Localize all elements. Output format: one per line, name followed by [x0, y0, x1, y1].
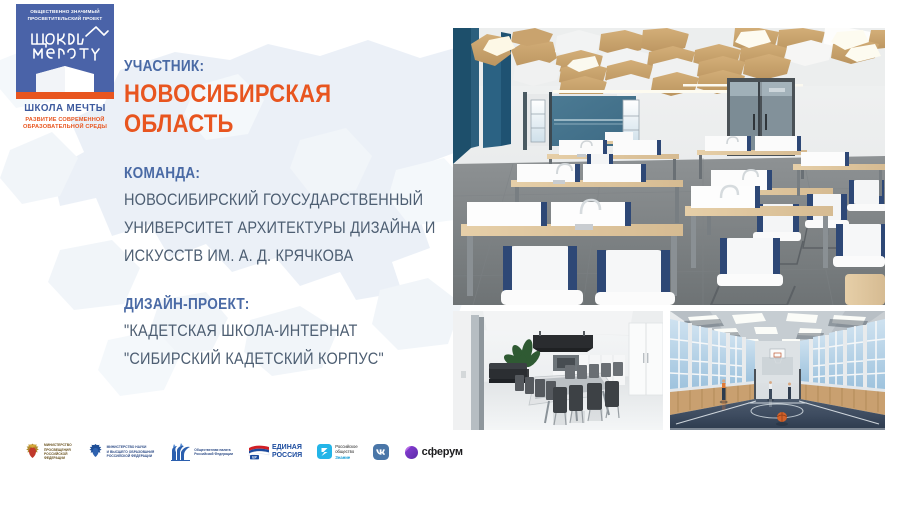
logo-house-icon	[16, 62, 114, 92]
footer-logo-minprosvet: МИНИСТЕРСТВО ПРОСВЕЩЕНИЯ РОССИЙСКОЙ ФЕДЕ…	[24, 442, 72, 462]
znanie-icon	[317, 444, 332, 459]
participant-label: УЧАСТНИК:	[124, 58, 414, 76]
footer-logo-sferum: сферум	[404, 445, 463, 460]
logo-subtitle: РАЗВИТИЕ СОВРЕМЕННОЙ ОБРАЗОВАТЕЛЬНОЙ СРЕ…	[16, 117, 114, 132]
logo-subtitle-line2: ОБРАЗОВАТЕЛЬНОЙ СРЕДЫ	[16, 124, 114, 131]
logo-banner: ОБЩЕСТВЕННО ЗНАЧИМЫЙ ПРОСВЕТИТЕЛЬСКИЙ ПР…	[16, 4, 114, 92]
logo-banner-caption: ОБЩЕСТВЕННО ЗНАЧИМЫЙ ПРОСВЕТИТЕЛЬСКИЙ ПР…	[16, 4, 114, 22]
logo-script-handwriting	[16, 22, 114, 64]
minprosvet-line4: ФЕДЕРАЦИИ	[44, 456, 72, 460]
school-of-dreams-logo: ОБЩЕСТВЕННО ЗНАЧИМЫЙ ПРОСВЕТИТЕЛЬСКИЙ ПР…	[16, 4, 114, 131]
edinaya-rossiya-line1: ЕДИНАЯ	[272, 444, 302, 452]
logo-banner-line1: ОБЩЕСТВЕННО ЗНАЧИМЫЙ	[20, 9, 110, 16]
participant-region-line1: НОВОСИБИРСКАЯ	[124, 79, 414, 109]
sferum-icon	[404, 445, 419, 460]
conference-room-illustration	[453, 311, 663, 430]
palata-icon	[169, 442, 191, 462]
footer-logo-znanie: Российское общество Знание	[317, 444, 357, 460]
footer-logo-vk	[373, 444, 389, 460]
znanie-text: Российское общество Знание	[335, 444, 357, 460]
photo-classroom-main	[453, 28, 885, 305]
team-line-1: НОВОСИБИРСКИЙ ГОУСУДАРСТВЕННЫЙ	[124, 186, 414, 214]
partner-logos-footer: МИНИСТЕРСТВО ПРОСВЕЩЕНИЯ РОССИЙСКОЙ ФЕДЕ…	[24, 442, 463, 462]
znanie-line3: Знание	[335, 455, 357, 460]
design-project-line-1: "КАДЕТСКАЯ ШКОЛА-ИНТЕРНАТ	[124, 317, 414, 345]
edinaya-rossiya-line2: РОССИЯ	[272, 452, 302, 460]
design-project-label: ДИЗАЙН-ПРОЕКТ:	[124, 296, 414, 314]
edinaya-rossiya-flag-icon: ЕР	[248, 444, 270, 460]
palata-text: Общественная палата Российской Федерации	[194, 448, 233, 457]
footer-logo-minobrnauki: МИНИСТЕРСТВО НАУКИ И ВЫСШЕГО ОБРАЗОВАНИЯ…	[87, 442, 155, 462]
logo-title: ШКОЛА МЕЧТЫ	[16, 103, 114, 114]
sferum-label: сферум	[422, 446, 463, 458]
gold-eagle-icon	[24, 442, 41, 462]
minprosvet-text: МИНИСТЕРСТВО ПРОСВЕЩЕНИЯ РОССИЙСКОЙ ФЕДЕ…	[44, 443, 72, 461]
minprosvet-line1: МИНИСТЕРСТВО	[44, 443, 72, 447]
design-project-group: ДИЗАЙН-ПРОЕКТ: "КАДЕТСКАЯ ШКОЛА-ИНТЕРНАТ…	[124, 296, 454, 373]
logo-orange-bar	[16, 92, 114, 99]
team-label: КОМАНДА:	[124, 165, 414, 183]
vk-icon	[373, 444, 389, 460]
logo-subtitle-line1: РАЗВИТИЕ СОВРЕМЕННОЙ	[16, 117, 114, 124]
team-line-3: ИСКУССТВ ИМ. А. Д. КРЯЧКОВА	[124, 242, 414, 270]
footer-logo-palata: Общественная палата Российской Федерации	[169, 442, 233, 462]
slide-text-column: УЧАСТНИК: НОВОСИБИРСКАЯ ОБЛАСТЬ КОМАНДА:…	[124, 58, 454, 373]
presentation-slide: ОБЩЕСТВЕННО ЗНАЧИМЫЙ ПРОСВЕТИТЕЛЬСКИЙ ПР…	[0, 0, 900, 505]
minobrnauki-text: МИНИСТЕРСТВО НАУКИ И ВЫСШЕГО ОБРАЗОВАНИЯ…	[107, 445, 155, 458]
classroom-illustration	[453, 28, 885, 305]
photo-conference-room	[453, 311, 663, 430]
gymnasium-illustration	[670, 311, 885, 430]
blue-eagle-icon	[87, 442, 104, 462]
palata-line2: Российской Федерации	[194, 452, 233, 456]
footer-logo-edinaya-rossiya: ЕР ЕДИНАЯ РОССИЯ	[248, 444, 302, 460]
minobrnauki-line3: РОССИЙСКОЙ ФЕДЕРАЦИИ	[107, 454, 155, 458]
edinaya-rossiya-text: ЕДИНАЯ РОССИЯ	[272, 444, 302, 459]
team-group: КОМАНДА: НОВОСИБИРСКИЙ ГОУСУДАРСТВЕННЫЙ …	[124, 165, 454, 270]
photo-gymnasium	[670, 311, 885, 430]
team-line-2: УНИВЕРСИТЕТ АРХИТЕКТУРЫ ДИЗАЙНА И	[124, 214, 414, 242]
design-project-line-2: "СИБИРСКИЙ КАДЕТСКИЙ КОРПУС"	[124, 345, 414, 373]
participant-region-line2: ОБЛАСТЬ	[124, 109, 414, 139]
svg-text:ЕР: ЕР	[252, 456, 257, 460]
